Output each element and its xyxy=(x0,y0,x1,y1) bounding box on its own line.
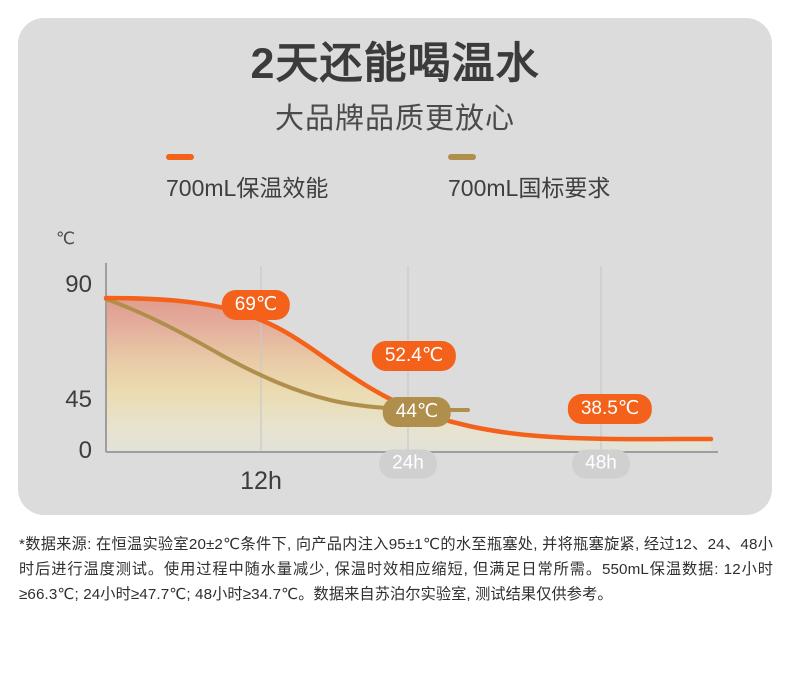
data-label-52-4c: 52.4℃ xyxy=(372,341,456,371)
promo-card: 2天还能喝温水 大品牌品质更放心 700mL保温效能 700mL国标要求 xyxy=(18,18,772,515)
x-tick-24h: 24h xyxy=(379,450,437,479)
data-label-44c: 44℃ xyxy=(383,397,451,427)
x-tick-48h: 48h xyxy=(572,450,630,479)
data-label-38-5c: 38.5℃ xyxy=(568,394,652,424)
x-axis-ticks: 12h 24h 48h xyxy=(18,18,772,515)
data-source-footnote: *数据来源: 在恒温实验室20±2℃条件下, 向产品内注入95±1℃的水至瓶塞处… xyxy=(19,532,773,607)
x-tick-12h: 12h xyxy=(228,464,294,499)
data-label-69c: 69℃ xyxy=(222,290,290,320)
temperature-retention-chart: ℃ 90 45 0 12h 24h 48h 69℃ 52.4℃ 44℃ 38.5… xyxy=(18,18,772,515)
